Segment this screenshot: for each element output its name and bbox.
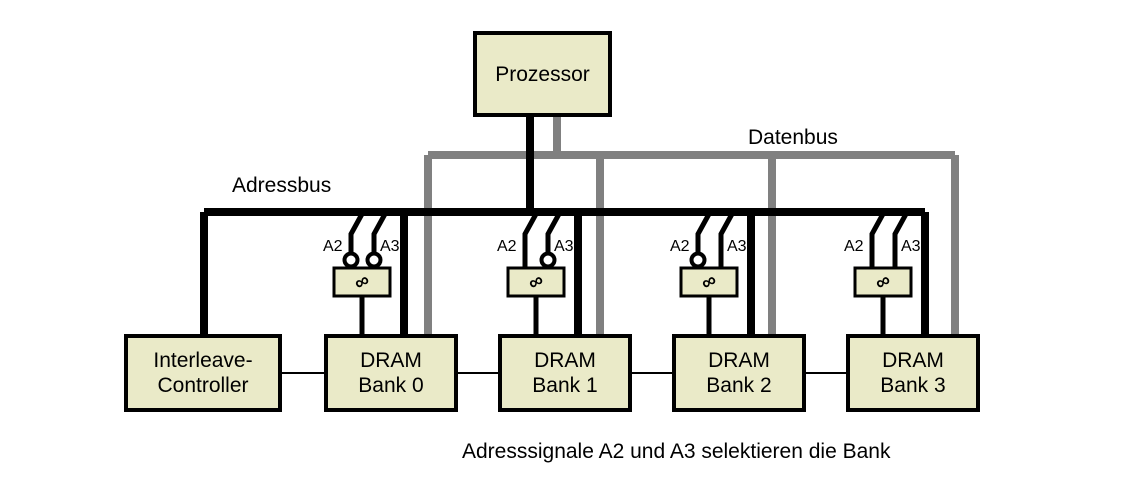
diagram-canvas: ProzessorAdressbusDatenbus∞A2A3∞A2A3∞A2A…	[0, 0, 1146, 500]
decoder-bank-2-a2-tap-line	[698, 214, 709, 255]
decoder-bank-3-a2-tap-line	[872, 214, 883, 268]
interleave-controller-box[interactable]	[126, 336, 280, 410]
decoder-bank-0-a2-inverter-bubble	[345, 254, 358, 267]
decoder-bank-2-a2-label: A2	[670, 238, 690, 256]
decoder-bank-3-gate-box[interactable]	[855, 268, 911, 296]
signal-a3-text: A3	[727, 238, 747, 255]
diagram-caption-text: Adresssignale A2 und A3 selektieren die …	[462, 440, 890, 463]
decoder-bank-1-a3-label: A3	[554, 238, 574, 256]
dram-bank-1-box[interactable]	[500, 336, 630, 410]
decoder-bank-0-a2-label: A2	[323, 238, 343, 256]
decoder-bank-2-a3-label: A3	[727, 238, 747, 256]
data-bus-label: Datenbus	[748, 126, 838, 150]
decoder-bank-0-gate-box[interactable]	[334, 268, 390, 296]
address-bus-label: Adressbus	[232, 174, 331, 198]
decoder-bank-1-a3-inverter-bubble	[542, 254, 555, 267]
decoder-bank-0-a2-tap-line	[351, 214, 362, 255]
decoder-bank-1-gate-box[interactable]	[508, 268, 564, 296]
signal-a3-text: A3	[380, 238, 400, 255]
data-bus-label-text: Datenbus	[748, 126, 838, 149]
signal-a2-text: A2	[844, 238, 864, 255]
signal-a3-text: A3	[901, 238, 921, 255]
address-bus-label-text: Adressbus	[232, 174, 331, 197]
processor-box[interactable]	[475, 33, 610, 115]
dram-bank-0-box[interactable]	[326, 336, 456, 410]
decoder-bank-2-a2-inverter-bubble	[692, 254, 705, 267]
decoder-bank-0-a3-label: A3	[380, 238, 400, 256]
dram-bank-3-box[interactable]	[848, 336, 978, 410]
signal-a2-text: A2	[670, 238, 690, 255]
decoder-bank-3-a2-label: A2	[844, 238, 864, 256]
dram-bank-2-box[interactable]	[674, 336, 804, 410]
decoder-bank-3-a3-label: A3	[901, 238, 921, 256]
signal-a2-text: A2	[323, 238, 343, 255]
diagram-caption: Adresssignale A2 und A3 selektieren die …	[462, 440, 890, 464]
signal-a2-text: A2	[497, 238, 517, 255]
decoder-bank-1-a2-tap-line	[525, 214, 536, 268]
decoder-bank-2-gate-box[interactable]	[681, 268, 737, 296]
decoder-bank-0-a3-inverter-bubble	[368, 254, 381, 267]
decoder-bank-1-a2-label: A2	[497, 238, 517, 256]
signal-a3-text: A3	[554, 238, 574, 255]
